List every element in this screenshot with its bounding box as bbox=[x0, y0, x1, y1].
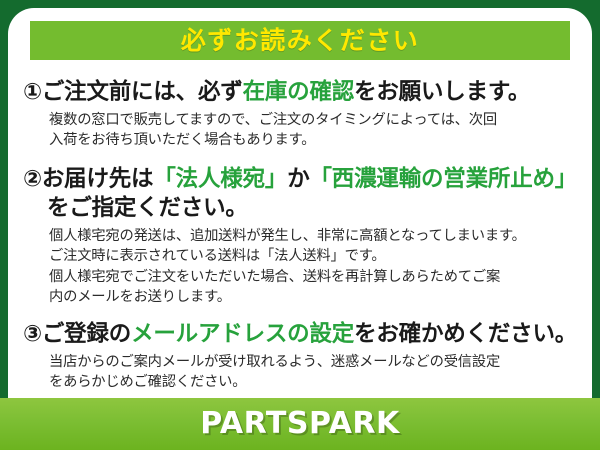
item-1-highlight: 在庫の確認 bbox=[243, 79, 355, 105]
notice-body: ①ご注文前には、必ず在庫の確認をお願いします。 複数の窓口で販売してますので、ご… bbox=[8, 68, 592, 406]
item-3-text-after: をお確かめください。 bbox=[354, 321, 577, 347]
item-2-highlight-2: 「西濃運輸の営業所止め」 bbox=[310, 166, 578, 192]
item-3-subline-1: 当店からのご案内メールが受け取れるよう、迷惑メールなどの受信設定 bbox=[49, 352, 579, 372]
header-bar: 必ずお読みください bbox=[30, 21, 570, 60]
item-1-heading: ①ご注文前には、必ず在庫の確認をお願いします。 bbox=[23, 78, 579, 107]
item-1-marker: ① bbox=[23, 79, 42, 105]
item-3-text-before: ご登録の bbox=[42, 321, 131, 347]
item-2-highlight-1: 「法人様宛」 bbox=[153, 166, 287, 192]
item-2-subline-2: ご注文時に表示されている送料は「法人送料」です。 bbox=[49, 246, 579, 266]
item-2-text-before: お届け先は bbox=[42, 166, 154, 192]
item-2-subline-4: 内のメールをお送りします。 bbox=[49, 287, 579, 307]
item-1-subline-1: 複数の窓口で販売してますので、ご注文のタイミングによっては、次回 bbox=[49, 110, 579, 130]
item-3-subtext: 当店からのご案内メールが受け取れるよう、迷惑メールなどの受信設定 をあらかじめご… bbox=[23, 352, 579, 393]
notice-item-1: ①ご注文前には、必ず在庫の確認をお願いします。 複数の窓口で販売してますので、ご… bbox=[23, 78, 579, 150]
item-2-heading: ②お届け先は「法人様宛」か「西濃運輸の営業所止め」 bbox=[23, 165, 579, 194]
brand-logo: PARTSPARK bbox=[200, 409, 400, 439]
item-3-subline-2: をあらかじめご確認ください。 bbox=[49, 372, 579, 392]
item-1-text-before: ご注文前には、必ず bbox=[42, 79, 243, 105]
item-1-text-after: をお願いします。 bbox=[354, 79, 530, 105]
notice-panel: 必ずお読みください ①ご注文前には、必ず在庫の確認をお願いします。 複数の窓口で… bbox=[8, 8, 592, 442]
footer-bar: PARTSPARK bbox=[0, 398, 600, 450]
item-3-heading: ③ご登録のメールアドレスの設定をお確かめください。 bbox=[23, 320, 579, 349]
item-3-highlight: メールアドレスの設定 bbox=[131, 321, 354, 347]
notice-item-3: ③ご登録のメールアドレスの設定をお確かめください。 当店からのご案内メールが受け… bbox=[23, 320, 579, 392]
item-2-subline-1: 個人様宅宛の発送は、追加送料が発生し、非常に高額となってしまいます。 bbox=[49, 226, 579, 246]
item-3-marker: ③ bbox=[23, 321, 42, 347]
notice-item-2: ②お届け先は「法人様宛」か「西濃運輸の営業所止め」 をご指定ください。 個人様宅… bbox=[23, 165, 579, 307]
item-2-marker: ② bbox=[23, 166, 42, 192]
item-2-heading-line2: をご指定ください。 bbox=[23, 194, 579, 223]
item-1-subline-2: 入荷をお待ち頂いただく場合もあります。 bbox=[49, 130, 579, 150]
item-2-subtext: 個人様宅宛の発送は、追加送料が発生し、非常に高額となってしまいます。 ご注文時に… bbox=[23, 226, 579, 307]
item-2-text-mid: か bbox=[287, 166, 309, 192]
notice-banner: 必ずお読みください ①ご注文前には、必ず在庫の確認をお願いします。 複数の窓口で… bbox=[0, 0, 600, 450]
item-2-subline-3: 個人様宅宛でご注文をいただいた場合、送料を再計算しあらためてご案 bbox=[49, 267, 579, 287]
header-title: 必ずお読みください bbox=[181, 28, 420, 53]
item-1-subtext: 複数の窓口で販売してますので、ご注文のタイミングによっては、次回 入荷をお待ち頂… bbox=[23, 110, 579, 151]
